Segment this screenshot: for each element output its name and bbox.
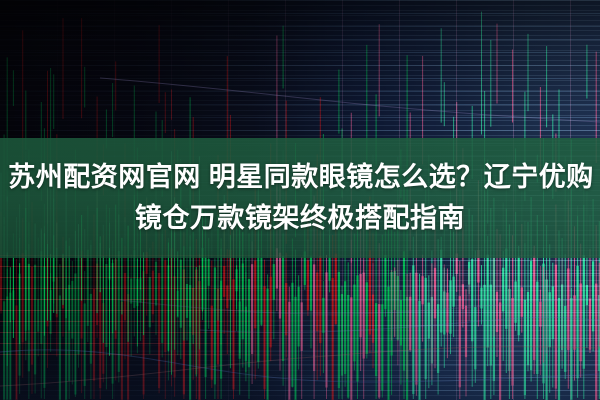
title-band <box>0 138 600 258</box>
banner-image: 苏州配资网官网 明星同款眼镜怎么选？辽宁优购 镜仓万款镜架终极搭配指南 <box>0 0 600 400</box>
